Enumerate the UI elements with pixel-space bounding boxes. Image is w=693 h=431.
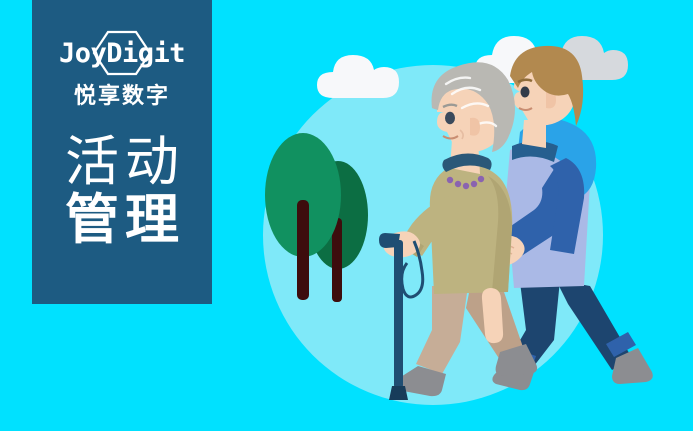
woman-eye — [445, 112, 455, 124]
cane-shaft — [394, 240, 403, 388]
cane-tip — [389, 386, 408, 400]
title-panel: JoyDigit 悦享数字 活动 管理 — [32, 0, 212, 304]
page-title: 活动 管理 — [59, 133, 185, 250]
logo-subtitle: 悦享数字 — [74, 85, 170, 107]
page-title-line-1: 活动 — [59, 133, 185, 191]
logo: JoyDigit — [42, 30, 202, 76]
logo-wordmark: JoyDigit — [59, 40, 185, 67]
page-title-line-2: 管理 — [59, 191, 185, 249]
poster-canvas: JoyDigit 悦享数字 活动 管理 — [0, 0, 693, 431]
young-man-eye — [521, 87, 530, 98]
